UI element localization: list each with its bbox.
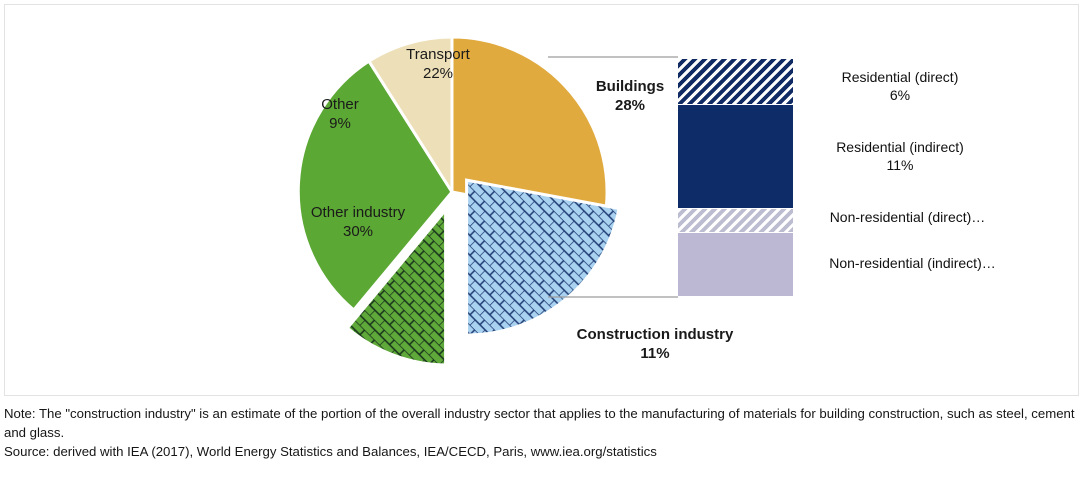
stack-label-non-residential-indirect: Non-residential (indirect)… [805, 254, 1020, 272]
stack-label-residential-indirect: Residential (indirect) 11% [800, 138, 1000, 175]
stack-label-residential-direct-value: 6% [800, 86, 1000, 104]
note-text: Note: The "construction industry" is an … [4, 404, 1082, 442]
source-text: Source: derived with IEA (2017), World E… [4, 442, 1082, 461]
figure-root: Transport 22% Other 9% Other industry 30… [0, 0, 1085, 478]
stack-label-non-residential-direct: Non-residential (direct)… [800, 208, 1015, 226]
stack-label-non-residential-indirect-name: Non-residential (indirect)… [829, 255, 996, 271]
pie-slice-buildings [467, 180, 619, 335]
pie-chart-svg [0, 0, 1085, 398]
stack-label-residential-indirect-value: 11% [800, 156, 1000, 174]
stack-label-residential-indirect-name: Residential (indirect) [836, 139, 964, 155]
stack-label-non-residential-direct-name: Non-residential (direct)… [830, 209, 986, 225]
stack-segment-non-residential-indirect [678, 233, 793, 296]
stack-label-residential-direct-name: Residential (direct) [842, 69, 959, 85]
stack-segment-non-residential-direct [678, 209, 793, 232]
stack-segment-residential-indirect [678, 105, 793, 208]
stack-segment-residential-direct [678, 59, 793, 104]
buildings-breakout-stacked-bar [678, 59, 793, 296]
stack-label-residential-direct: Residential (direct) 6% [800, 68, 1000, 105]
figure-footnotes: Note: The "construction industry" is an … [4, 404, 1082, 461]
